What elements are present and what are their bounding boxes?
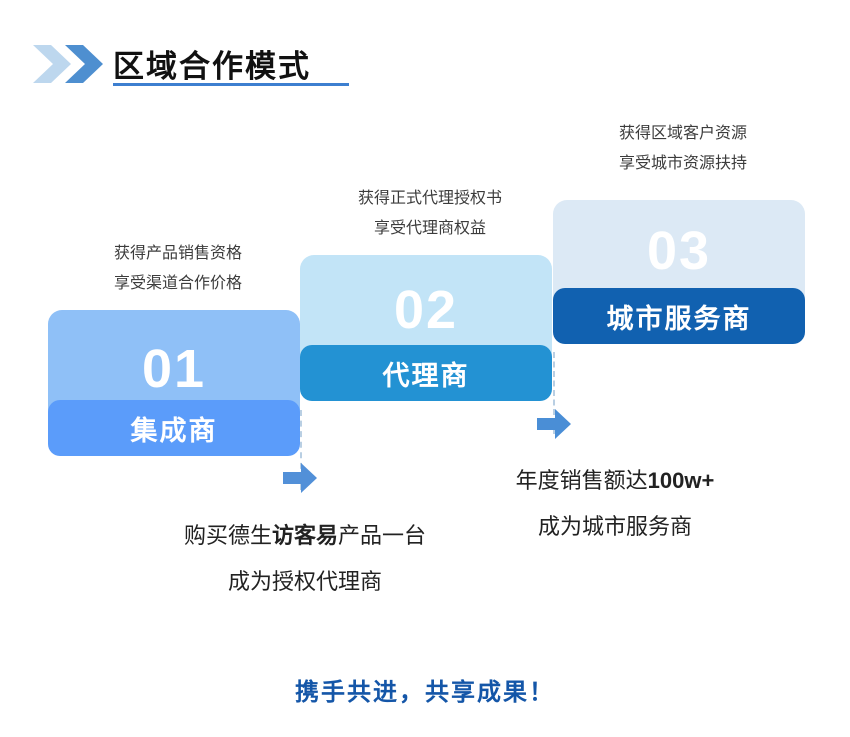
double-chevron-icon [33, 43, 103, 85]
right-arrow-icon [283, 463, 317, 493]
card-benefits-01: 获得产品销售资格 享受渠道合作价格 [48, 239, 308, 299]
tier-name-03: 城市服务商 [607, 297, 752, 336]
tier-name-02: 代理商 [383, 354, 470, 393]
title-underline [113, 83, 349, 86]
tier-number-01: 01 [48, 342, 300, 396]
tier-name-bar-03[interactable]: 城市服务商 [553, 288, 805, 344]
step-caption-2: 年度销售额达100w+ 成为城市服务商 [430, 458, 800, 550]
step-caption-1-line2: 成为授权代理商 [110, 559, 500, 605]
benefit-line: 获得正式代理授权书 [300, 184, 560, 214]
step-caption-2-line1: 年度销售额达100w+ [430, 458, 800, 504]
card-benefits-02: 获得正式代理授权书 享受代理商权益 [300, 184, 560, 244]
caption-prefix: 购买德生 [184, 523, 272, 548]
footer-slogan: 携手共进，共享成果！ [0, 672, 850, 707]
benefit-line: 享受城市资源扶持 [553, 149, 813, 179]
card-benefits-03: 获得区域客户资源 享受城市资源扶持 [553, 119, 813, 179]
page-title: 区域合作模式 [113, 41, 311, 86]
benefit-line: 享受渠道合作价格 [48, 269, 308, 299]
benefit-line: 获得区域客户资源 [553, 119, 813, 149]
right-arrow-icon [537, 409, 571, 439]
caption-highlight: 访客易 [272, 523, 338, 548]
tier-number-03: 03 [553, 224, 805, 278]
tier-number-02: 02 [300, 283, 552, 337]
tier-name-bar-02[interactable]: 代理商 [300, 345, 552, 401]
region-cooperation-infographic: 区域合作模式 获得产品销售资格 享受渠道合作价格 获得正式代理授权书 享受代理商… [0, 0, 850, 737]
step-caption-2-line2: 成为城市服务商 [430, 504, 800, 550]
benefit-line: 享受代理商权益 [300, 214, 560, 244]
tier-name-bar-01[interactable]: 集成商 [48, 400, 300, 456]
tier-name-01: 集成商 [131, 409, 218, 448]
caption-suffix: 产品一台 [338, 523, 426, 548]
header: 区域合作模式 [0, 0, 850, 110]
caption-highlight: 100w+ [648, 468, 715, 493]
benefit-line: 获得产品销售资格 [48, 239, 308, 269]
caption-prefix: 年度销售额达 [516, 468, 648, 493]
